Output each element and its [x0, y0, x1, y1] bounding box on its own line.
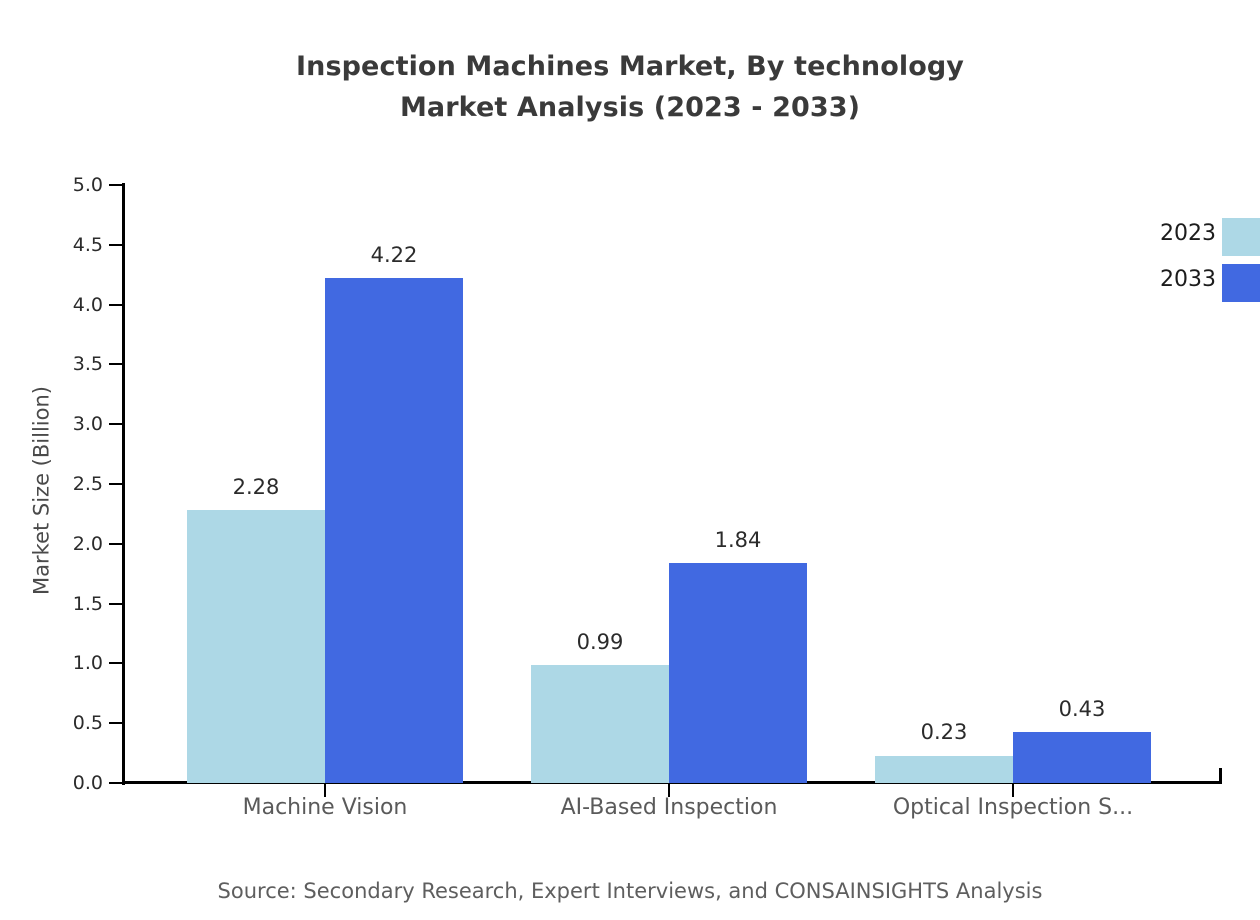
chart-legend: 20232033	[1130, 218, 1260, 308]
bar-2023-1[interactable]	[187, 510, 325, 783]
y-axis-tick	[109, 782, 122, 784]
y-axis-tick-label: 1.5	[43, 595, 103, 614]
y-axis-tick	[109, 722, 122, 724]
y-axis-tick-label: 1.0	[43, 654, 103, 673]
legend-swatch	[1222, 218, 1260, 256]
bar-2023-2[interactable]	[531, 665, 669, 783]
bar-2033-3[interactable]	[1013, 732, 1151, 783]
bar-value-label: 0.99	[577, 632, 624, 653]
y-axis-tick	[109, 363, 122, 365]
y-axis-tick	[109, 483, 122, 485]
y-axis-tick	[109, 603, 122, 605]
legend-swatch	[1222, 264, 1260, 302]
y-axis-tick	[109, 423, 122, 425]
legend-item-2033[interactable]: 2033	[1130, 264, 1260, 302]
bar-value-label: 2.28	[233, 477, 280, 498]
bar-value-label: 1.84	[715, 530, 762, 551]
legend-label: 2023	[1130, 222, 1216, 246]
y-axis-tick	[109, 304, 122, 306]
bar-2033-1[interactable]	[325, 278, 463, 783]
y-axis-tick-label: 5.0	[43, 176, 103, 195]
plot-area: 2.284.220.991.840.230.43	[122, 185, 1222, 783]
bar-value-label: 0.23	[921, 722, 968, 743]
x-axis-category-label: AI-Based Inspection	[561, 794, 778, 822]
bar-value-label: 4.22	[371, 245, 418, 266]
bar-2023-3[interactable]	[875, 756, 1013, 784]
y-axis-tick-label: 0.0	[43, 774, 103, 793]
x-axis-category-label: Optical Inspection S...	[893, 794, 1133, 822]
source-note: Source: Secondary Research, Expert Inter…	[0, 878, 1260, 904]
y-axis-tick	[109, 244, 122, 246]
y-axis-tick-label: 0.5	[43, 714, 103, 733]
x-axis-category-label: Machine Vision	[243, 794, 408, 822]
y-axis-tick	[109, 543, 122, 545]
y-axis-tick-label: 4.0	[43, 296, 103, 315]
chart-title: Inspection Machines Market, By technolog…	[0, 46, 1260, 128]
y-axis-tick-label: 2.5	[43, 475, 103, 494]
y-axis-tick-label: 3.0	[43, 415, 103, 434]
y-axis-tick	[109, 184, 122, 186]
legend-item-2023[interactable]: 2023	[1130, 218, 1260, 256]
legend-label: 2033	[1130, 268, 1216, 292]
y-axis-tick-label: 3.5	[43, 355, 103, 374]
bar-value-label: 0.43	[1059, 699, 1106, 720]
y-axis-tick	[109, 662, 122, 664]
bar-2033-2[interactable]	[669, 563, 807, 783]
y-axis-tick-label: 4.5	[43, 236, 103, 255]
y-axis-tick-label: 2.0	[43, 535, 103, 554]
